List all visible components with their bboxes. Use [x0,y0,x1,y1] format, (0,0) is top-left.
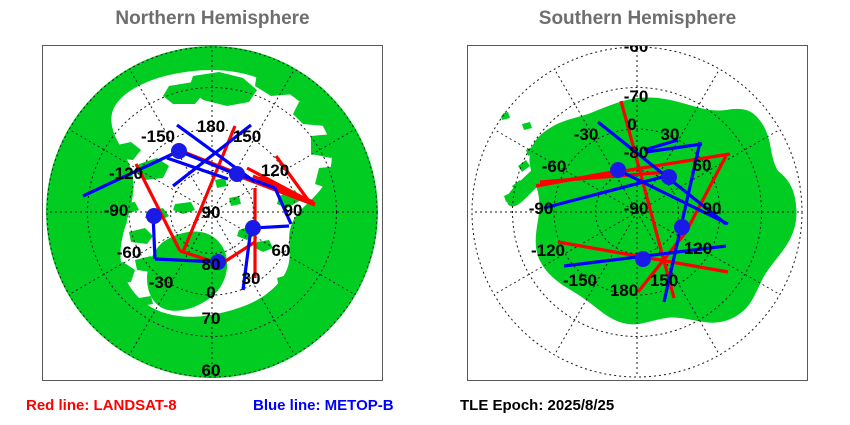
figure-root: Northern Hemisphere Southern Hemisphere [0,0,850,425]
svg-text:150: 150 [650,271,678,290]
page-title-south: Southern Hemisphere [467,8,808,30]
svg-text:90: 90 [202,203,221,222]
svg-text:-150: -150 [563,271,597,290]
svg-text:-90: -90 [624,199,649,218]
svg-text:180: 180 [610,281,638,300]
svg-text:180: 180 [197,117,225,136]
svg-text:60: 60 [202,361,221,380]
svg-text:-70: -70 [624,87,649,106]
svg-text:60: 60 [272,241,291,260]
svg-text:90: 90 [703,199,722,218]
svg-text:-60: -60 [542,157,567,176]
polar-plot-north: 180 -150 -120 -90 -60 -30 0 30 60 90 120… [42,45,383,381]
svg-text:-90: -90 [529,199,554,218]
legend-landsat8: Red line: LANDSAT-8 [26,397,177,414]
svg-text:-90: -90 [104,201,129,220]
svg-text:150: 150 [233,127,261,146]
polar-plot-south: -60 -70 -80 -90 0 30 60 90 120 150 180 -… [467,45,808,381]
svg-text:-120: -120 [531,241,565,260]
svg-text:-30: -30 [149,273,174,292]
svg-text:-80: -80 [624,143,649,162]
svg-text:0: 0 [627,115,636,134]
svg-text:-30: -30 [574,125,599,144]
page-title-north: Northern Hemisphere [42,8,383,30]
svg-text:30: 30 [242,269,261,288]
legend-tle-epoch: TLE Epoch: 2025/8/25 [460,397,614,414]
svg-text:120: 120 [261,161,289,180]
svg-text:90: 90 [284,201,303,220]
svg-text:80: 80 [202,255,221,274]
svg-text:-60: -60 [117,243,142,262]
svg-text:-150: -150 [141,127,175,146]
svg-text:-60: -60 [624,46,649,56]
north-hemisphere-map: 180 -150 -120 -90 -60 -30 0 30 60 90 120… [43,46,382,380]
svg-text:60: 60 [693,156,712,175]
svg-text:120: 120 [684,239,712,258]
legend-metopb: Blue line: METOP-B [253,397,394,414]
svg-text:-120: -120 [109,164,143,183]
svg-text:30: 30 [661,125,680,144]
south-hemisphere-map: -60 -70 -80 -90 0 30 60 90 120 150 180 -… [468,46,807,380]
svg-text:70: 70 [202,309,221,328]
svg-text:0: 0 [206,283,215,302]
